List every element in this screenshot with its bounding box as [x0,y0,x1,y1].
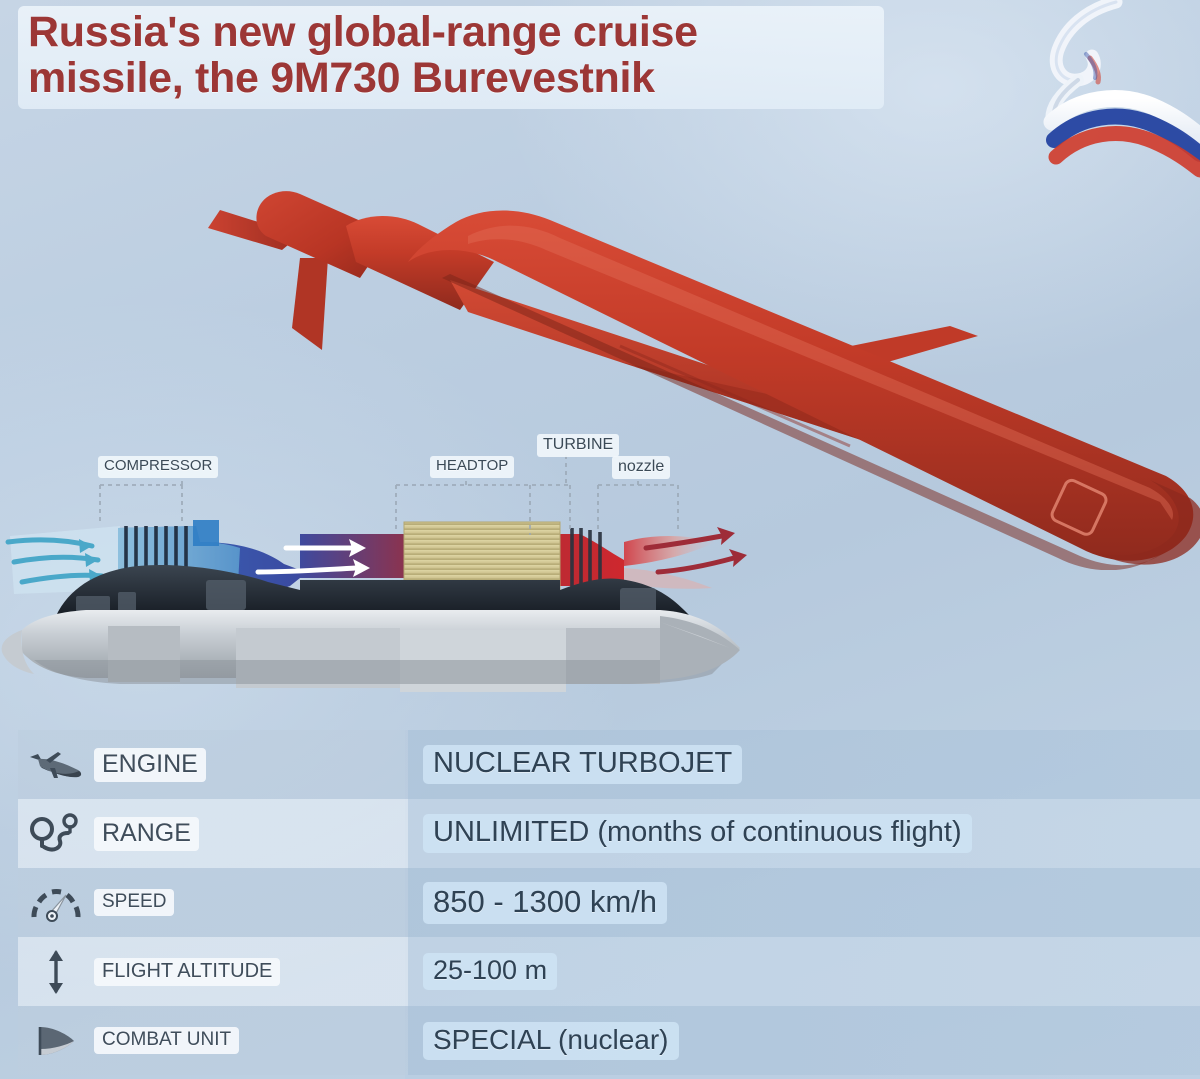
specifications-table: ENGINE NUCLEAR TURBOJET RANGE U [18,730,1200,1079]
table-row: FLIGHT ALTITUDE 25-100 m [18,937,1200,1006]
spec-label: FLIGHT ALTITUDE [94,958,280,986]
row-value-cell: UNLIMITED (months of continuous flight) [423,799,972,868]
callout-turbine: TURBINE [537,434,619,457]
spec-value: NUCLEAR TURBOJET [423,745,742,784]
row-label-cell: RANGE [94,817,199,851]
table-row: RANGE UNLIMITED (months of continuous fl… [18,799,1200,868]
row-label-cell: FLIGHT ALTITUDE [94,958,280,986]
spec-value: 850 - 1300 km/h [423,882,667,924]
row-label-cell: COMBAT UNIT [94,1027,239,1054]
spec-label: ENGINE [94,748,206,782]
callout-compressor: COMPRESSOR [98,456,218,478]
speedometer-icon [18,868,94,937]
callout-headtop: HEADTOP [430,456,514,478]
row-value-cell: SPECIAL (nuclear) [423,1006,679,1075]
row-value-cell: 25-100 m [423,937,557,1006]
row-value-cell: NUCLEAR TURBOJET [423,730,742,799]
table-row: ENGINE NUCLEAR TURBOJET [18,730,1200,799]
spec-label: RANGE [94,817,199,851]
row-label-cell: ENGINE [94,748,206,782]
infographic-page: COMPRESSOR HEADTOP TURBINE nozzle Russia… [0,0,1200,1079]
page-title: Russia's new global-range cruise missile… [18,6,884,109]
spec-label: COMBAT UNIT [94,1027,239,1054]
callout-nozzle: nozzle [612,456,670,479]
spec-label: SPEED [94,889,174,916]
row-value-cell: 850 - 1300 km/h [423,868,667,937]
route-pins-icon [18,799,94,868]
warhead-cone-icon [18,1006,94,1075]
spec-value: UNLIMITED (months of continuous flight) [423,814,972,853]
table-row: SPEED 850 - 1300 km/h [18,868,1200,937]
spec-value: SPECIAL (nuclear) [423,1022,679,1060]
missile-icon [18,730,94,799]
table-row: COMBAT UNIT SPECIAL (nuclear) [18,1006,1200,1075]
row-label-cell: SPEED [94,889,174,916]
callout-leader-lines [0,430,790,570]
spec-value: 25-100 m [423,953,557,990]
vertical-arrow-icon [18,937,94,1006]
